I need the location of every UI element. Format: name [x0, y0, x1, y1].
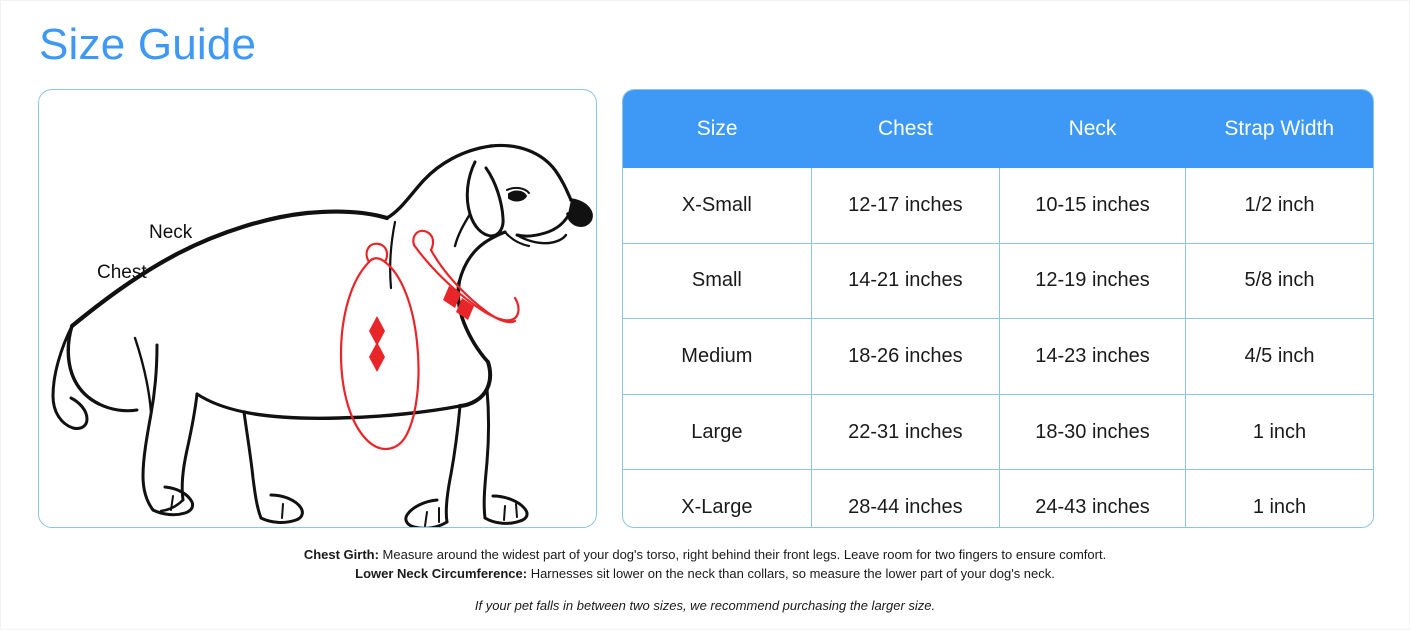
table-row: X-Small 12-17 inches 10-15 inches 1/2 in… [623, 168, 1373, 243]
size-guide-page: Size Guide [0, 0, 1410, 630]
size-table: Size Chest Neck Strap Width X-Small 12-1… [623, 90, 1373, 528]
cell-chest: 18-26 inches [811, 319, 999, 395]
table-header-row: Size Chest Neck Strap Width [623, 90, 1373, 168]
cell-neck: 12-19 inches [1000, 243, 1186, 319]
chest-girth-text: Measure around the widest part of your d… [379, 547, 1106, 562]
cell-size: Small [623, 243, 811, 319]
neck-label: Neck [149, 222, 193, 243]
in-between-sizes-note: If your pet falls in between two sizes, … [1, 597, 1409, 615]
column-header-strap-width: Strap Width [1186, 90, 1374, 168]
cell-chest: 22-31 inches [811, 394, 999, 470]
table-row: X-Large 28-44 inches 24-43 inches 1 inch [623, 470, 1373, 528]
cell-size: Large [623, 394, 811, 470]
column-header-neck: Neck [1000, 90, 1186, 168]
chest-girth-label: Chest Girth: [304, 547, 379, 562]
cell-chest: 14-21 inches [811, 243, 999, 319]
cell-neck: 14-23 inches [1000, 319, 1186, 395]
cell-strap: 1/2 inch [1186, 168, 1374, 243]
cell-strap: 1 inch [1186, 470, 1374, 528]
cell-size: Medium [623, 319, 811, 395]
column-header-size: Size [623, 90, 811, 168]
chest-girth-note: Chest Girth: Measure around the widest p… [1, 545, 1409, 564]
table-row: Medium 18-26 inches 14-23 inches 4/5 inc… [623, 319, 1373, 395]
cell-chest: 12-17 inches [811, 168, 999, 243]
dog-illustration-card: Chest Neck [38, 89, 597, 528]
lower-neck-text: Harnesses sit lower on the neck than col… [527, 566, 1055, 581]
table-row: Small 14-21 inches 12-19 inches 5/8 inch [623, 243, 1373, 319]
cell-neck: 10-15 inches [1000, 168, 1186, 243]
neck-measure-loop-back [431, 250, 515, 322]
table-row: Large 22-31 inches 18-30 inches 1 inch [623, 394, 1373, 470]
footer-notes: Chest Girth: Measure around the widest p… [1, 545, 1409, 615]
size-table-card: Size Chest Neck Strap Width X-Small 12-1… [622, 89, 1374, 528]
cell-neck: 24-43 inches [1000, 470, 1186, 528]
measure-arrowheads [369, 286, 474, 372]
lower-neck-note: Lower Neck Circumference: Harnesses sit … [1, 564, 1409, 583]
lower-neck-label: Lower Neck Circumference: [355, 566, 527, 581]
dog-measurement-diagram: Chest Neck [39, 90, 596, 527]
cell-chest: 28-44 inches [811, 470, 999, 528]
cell-size: X-Large [623, 470, 811, 528]
column-header-chest: Chest [811, 90, 999, 168]
page-title: Size Guide [39, 18, 256, 72]
chest-label: Chest [97, 262, 147, 283]
cell-neck: 18-30 inches [1000, 394, 1186, 470]
cell-strap: 1 inch [1186, 394, 1374, 470]
cell-strap: 5/8 inch [1186, 243, 1374, 319]
cell-strap: 4/5 inch [1186, 319, 1374, 395]
cell-size: X-Small [623, 168, 811, 243]
